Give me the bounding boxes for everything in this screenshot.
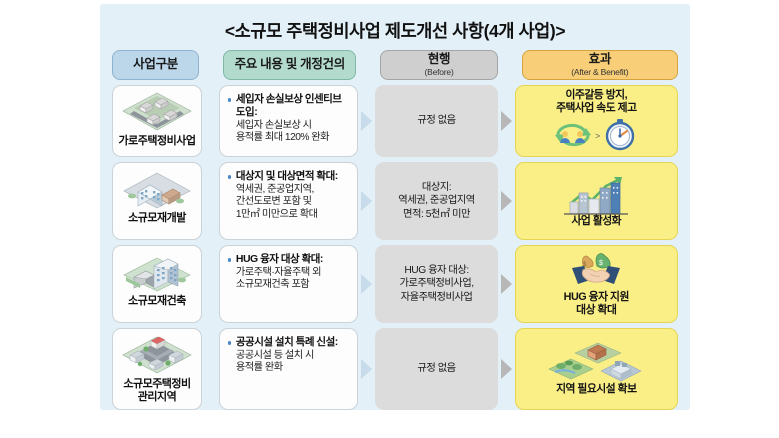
header-gap-3 — [502, 50, 518, 80]
handshake-money-bags-icon: $ $ — [550, 251, 642, 291]
arrow-before-to-effect — [498, 85, 515, 157]
header-proposal-label: 주요 내용 및 개정건의 — [235, 58, 345, 71]
proposal-detail: 세입자 손실보상 시 용적률 최대 120% 완화 — [228, 120, 352, 145]
growth-chart-city-icon — [550, 175, 642, 215]
proposal-cell: 세입자 손실보상 인센티브 도입: 세입자 손실보상 시 용적률 최대 120%… — [219, 85, 359, 157]
arrow-before-to-effect — [498, 328, 515, 410]
effect-text: HUG 융자 지원 대상 확대 — [564, 291, 629, 317]
category-label: 소규모재건축 — [128, 295, 186, 308]
proposal-title: 세입자 손실보상 인센티브 도입: — [228, 93, 352, 119]
proposal-detail: 역세권, 준공업지역, 간선도로변 포함 및 1만㎡ 미만으로 확대 — [228, 184, 352, 222]
header-gap-1 — [203, 50, 219, 80]
effect-text: 이주갈등 방지, 주택사업 속도 제고 — [556, 89, 636, 115]
effect-cell: 지역 필요시설 확보 — [515, 328, 678, 410]
arrow-before-to-effect — [498, 245, 515, 323]
arrow-proposal-to-before — [358, 162, 375, 240]
mid-rise-building-isometric-icon — [120, 167, 194, 211]
table-header-row: 사업구분 주요 내용 및 개정건의 현행 (Before) 효과 (After … — [112, 50, 678, 80]
proposal-detail: 가로주택·자율주택 외 소규모재건축 포함 — [228, 267, 352, 292]
header-category: 사업구분 — [112, 50, 199, 80]
proposal-cell: 공공시설 설치 특례 신설: 공공시설 등 설치 시 용적률 완화 — [219, 328, 359, 410]
proposal-cell: 대상지 및 대상면적 확대: 역세권, 준공업지역, 간선도로변 포함 및 1만… — [219, 162, 359, 240]
header-before-sublabel: (Before) — [424, 68, 453, 77]
arrow-spacer — [202, 85, 219, 157]
effect-text: 사업 활성화 — [571, 215, 621, 228]
proposal-title: 공공시설 설치 특례 신설: — [228, 336, 352, 349]
category-cell: 소규모재건축 — [112, 245, 202, 323]
arrow-proposal-to-before — [358, 85, 375, 157]
infographic-panel: <소규모 주택정비사업 제도개선 사항(4개 사업)> 사업구분 주요 내용 및… — [100, 4, 690, 410]
svg-text:$: $ — [599, 260, 603, 267]
row-houses-isometric-icon — [120, 90, 194, 134]
comparison-table: 사업구분 주요 내용 및 개정건의 현행 (Before) 효과 (After … — [112, 50, 678, 415]
before-cell: 규정 없음 — [375, 85, 497, 157]
header-gap-2 — [360, 50, 376, 80]
before-cell: 대상지: 역세권, 준공업지역 면적: 5천㎡ 미만 — [375, 162, 497, 240]
effect-cell: $ $ HUG 융자 지원 대상 확대 — [515, 245, 678, 323]
effect-cell: 사업 활성화 — [515, 162, 678, 240]
proposal-title: HUG 융자 대상 확대: — [228, 253, 352, 266]
table-row: 가로주택정비사업 세입자 손실보상 인센티브 도입: 세입자 손실보상 시 용적… — [112, 85, 678, 157]
category-label: 소규모주택정비 관리지역 — [123, 378, 190, 403]
category-label: 소규모재개발 — [128, 212, 186, 225]
header-effect-label: 효과 — [589, 53, 611, 66]
before-cell: HUG 융자 대상: 가로주택정비사업, 자율주택정비사업 — [375, 245, 497, 323]
header-proposal: 주요 내용 및 개정건의 — [223, 50, 356, 80]
category-cell: 소규모주택정비 관리지역 — [112, 328, 202, 410]
svg-text:>: > — [595, 131, 600, 141]
park-facility-buildings-icon — [541, 343, 651, 383]
header-effect: 효과 (After & Benefit) — [522, 50, 678, 80]
people-cycle-stopwatch-icon: > — [548, 115, 644, 153]
header-before: 현행 (Before) — [380, 50, 497, 80]
arrow-spacer — [202, 162, 219, 240]
proposal-detail: 공공시설 등 설치 시 용적률 완화 — [228, 350, 352, 375]
header-before-label: 현행 — [428, 53, 450, 66]
category-cell: 소규모재개발 — [112, 162, 202, 240]
effect-text: 지역 필요시설 확보 — [556, 383, 636, 396]
header-category-label: 사업구분 — [133, 58, 178, 71]
proposal-cell: HUG 융자 대상 확대: 가로주택·자율주택 외 소규모재건축 포함 — [219, 245, 359, 323]
arrow-proposal-to-before — [358, 328, 375, 410]
neighborhood-block-isometric-icon — [120, 333, 194, 377]
effect-cell: 이주갈등 방지, 주택사업 속도 제고 > — [515, 85, 678, 157]
before-cell: 규정 없음 — [375, 328, 497, 410]
page-title: <소규모 주택정비사업 제도개선 사항(4개 사업)> — [100, 18, 690, 43]
arrow-spacer — [202, 245, 219, 323]
arrow-proposal-to-before — [358, 245, 375, 323]
table-row: 소규모재건축 HUG 융자 대상 확대: 가로주택·자율주택 외 소규모재건축 … — [112, 245, 678, 323]
category-cell: 가로주택정비사업 — [112, 85, 202, 157]
arrow-spacer — [202, 328, 219, 410]
arrow-before-to-effect — [498, 162, 515, 240]
category-label: 가로주택정비사업 — [119, 135, 196, 148]
table-row: 소규모주택정비 관리지역 공공시설 설치 특례 신설: 공공시설 등 설치 시 … — [112, 328, 678, 410]
proposal-title: 대상지 및 대상면적 확대: — [228, 170, 352, 183]
table-row: 소규모재개발 대상지 및 대상면적 확대: 역세권, 준공업지역, 간선도로변 … — [112, 162, 678, 240]
header-effect-sublabel: (After & Benefit) — [571, 68, 628, 77]
apartment-block-isometric-icon — [120, 250, 194, 294]
